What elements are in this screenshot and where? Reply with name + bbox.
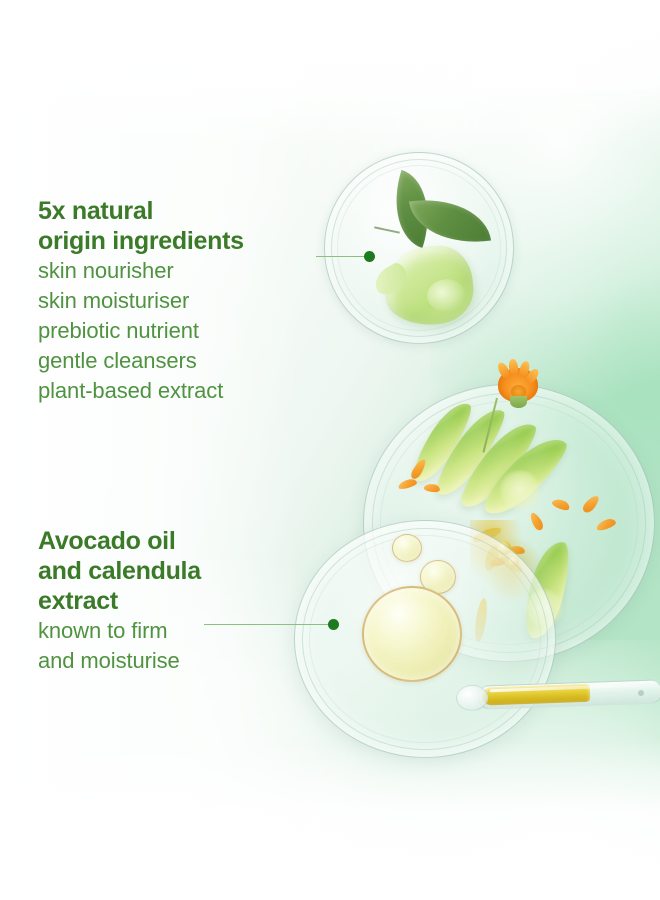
cream-swirl-highlight	[425, 277, 466, 313]
callout-natural-origin-ingredients: 5x natural origin ingredients skin nouri…	[38, 196, 244, 406]
oil-droplet	[392, 534, 422, 562]
ingredient-item: skin nourisher	[38, 256, 244, 286]
ingredient-item: prebiotic nutrient	[38, 316, 244, 346]
background-top-wash	[0, 0, 660, 150]
callout-connector-line-1	[316, 256, 366, 257]
avocado-slice-hollow	[498, 470, 542, 510]
background-bottom-wash	[0, 740, 660, 900]
oil-droplet	[362, 586, 462, 682]
callout-heading-line: origin ingredients	[38, 226, 244, 256]
callout-connector-dot-1	[364, 251, 375, 262]
callout-heading-line: 5x natural	[38, 196, 244, 226]
product-ingredient-infographic: 5x natural origin ingredients skin nouri…	[0, 0, 660, 900]
ingredient-item: plant-based extract	[38, 376, 244, 406]
ingredient-item: skin moisturiser	[38, 286, 244, 316]
callout-heading-line: and calendula	[38, 556, 201, 586]
callout-connector-line-2	[204, 624, 332, 625]
callout-body-line: and moisturise	[38, 646, 201, 676]
calendula-flower	[498, 368, 538, 402]
flower-calyx	[510, 396, 527, 408]
callout-heading-line: extract	[38, 586, 201, 616]
glass-pipette	[449, 672, 660, 715]
callout-heading-line: Avocado oil	[38, 526, 201, 556]
callout-connector-dot-2	[328, 619, 339, 630]
callout-body-line: known to firm	[38, 616, 201, 646]
ingredient-item: gentle cleansers	[38, 346, 244, 376]
callout-avocado-oil-calendula-extract: Avocado oil and calendula extract known …	[38, 526, 201, 676]
